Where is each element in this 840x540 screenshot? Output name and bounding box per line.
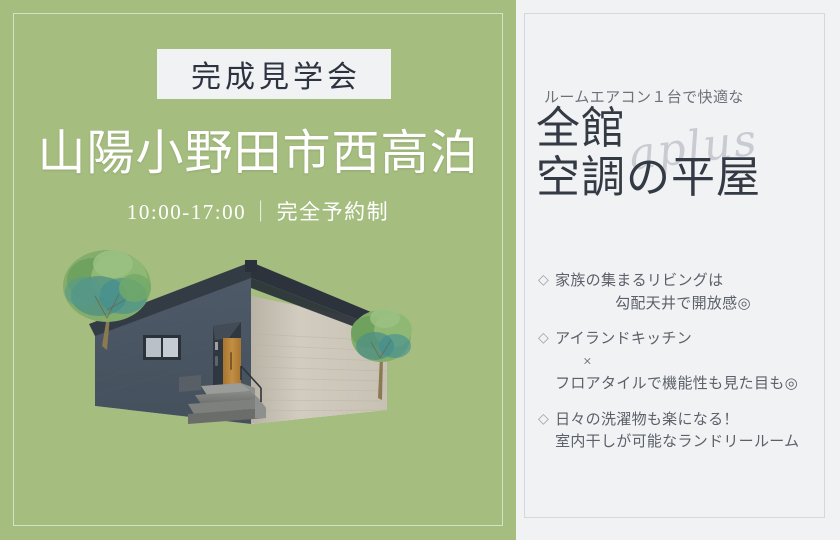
event-type-label: 完成見学会 — [187, 52, 361, 96]
feature-list: ◇家族の集まるリビングは勾配天井で開放感◎◇アイランドキッチン×フロアタイルで機… — [538, 270, 826, 467]
tree-left-canopy — [63, 250, 151, 322]
main-headline: 全館 空調の平屋 — [536, 104, 836, 203]
feature-text-line: × — [555, 351, 826, 374]
feature-item: ◇日々の洗濯物も楽になる！室内干しが可能なランドリールーム — [538, 409, 826, 454]
entry-side-block — [179, 375, 201, 392]
opening-hours: 10:00-17:00 — [127, 200, 246, 224]
feature-text-line: 室内干しが可能なランドリールーム — [555, 431, 826, 454]
left-green-panel: 完成見学会 山陽小野田市西高泊 10:00-17:00｜完全予約制 — [0, 0, 516, 540]
house-roof-ridge — [245, 260, 257, 272]
house-svg — [55, 238, 475, 488]
event-type-badge: 完成見学会 — [157, 49, 391, 99]
feature-text-line: 勾配天井で開放感◎ — [555, 293, 826, 316]
headline-line-1: 全館 — [536, 104, 836, 153]
feature-text-line: フロアタイルで機能性も見た目も◎ — [555, 373, 826, 396]
feature-item: ◇アイランドキッチン×フロアタイルで機能性も見た目も◎ — [538, 328, 826, 396]
house-window — [143, 335, 181, 360]
intercom-panel — [215, 342, 218, 350]
feature-text-line: 日々の洗濯物も楽になる！ — [555, 409, 826, 432]
open-house-banner: 完成見学会 山陽小野田市西高泊 10:00-17:00｜完全予約制 — [0, 0, 840, 540]
wall-lamp — [215, 356, 218, 366]
hours-and-reservation: 10:00-17:00｜完全予約制 — [0, 196, 516, 226]
hours-separator: ｜ — [246, 200, 277, 224]
headline-line-2: 空調の平屋 — [536, 153, 836, 202]
diamond-bullet-icon: ◇ — [538, 328, 549, 349]
diamond-bullet-icon: ◇ — [538, 409, 549, 430]
feature-text-line: アイランドキッチン — [555, 328, 826, 351]
house-exterior-rendering — [55, 238, 475, 488]
door-handle — [230, 352, 232, 370]
address-title: 山陽小野田市西高泊 — [0, 126, 516, 181]
feature-item: ◇家族の集まるリビングは勾配天井で開放感◎ — [538, 270, 826, 315]
diamond-bullet-icon: ◇ — [538, 270, 549, 291]
feature-text-line: 家族の集まるリビングは — [555, 270, 826, 293]
right-info-panel: ルームエアコン１台で快適な aplus 全館 空調の平屋 ◇家族の集まるリビング… — [516, 0, 840, 540]
reservation-note: 完全予約制 — [277, 200, 390, 224]
